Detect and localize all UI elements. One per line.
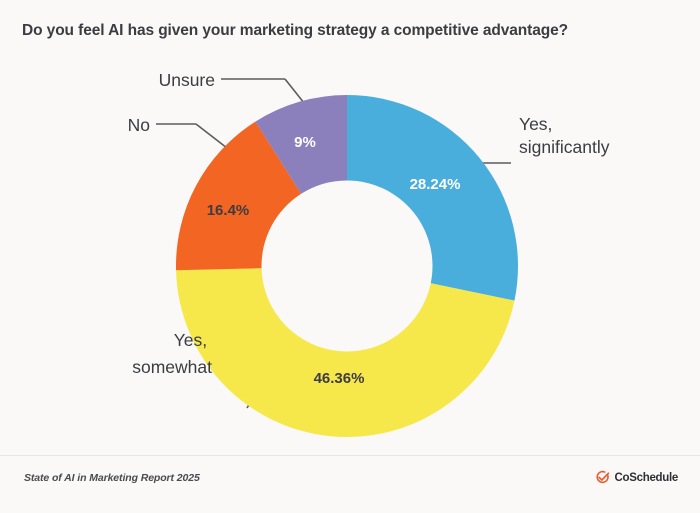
slice-yes-somewhat[interactable] (176, 268, 514, 437)
slice-value-unsure: 9% (294, 134, 316, 151)
leader-line-no-diagonal (196, 124, 227, 148)
slice-value-no: 16.4% (207, 202, 250, 219)
slice-value-yes-somewhat: 46.36% (314, 370, 365, 387)
brand-name: CoSchedule (615, 472, 678, 484)
callout-label-unsure: Unsure (159, 70, 215, 90)
callout-label-no: No (128, 115, 150, 135)
donut-chart: 28.24% 46.36% 16.4% 9% Yes, significantl… (0, 58, 700, 453)
slice-yes-significantly[interactable] (347, 95, 518, 301)
donut-chart-svg: 28.24% 46.36% 16.4% 9% Yes, significantl… (0, 58, 700, 453)
slice-value-yes-significantly: 28.24% (410, 176, 461, 193)
column-header-answer: Answer (2, 2, 122, 22)
infographic-canvas: Do you feel AI has given your marketing … (0, 0, 700, 513)
source-citation: State of AI in Marketing Report 2025 (24, 472, 200, 484)
table-header-row: Answer Share (2, 2, 180, 22)
check-circle-icon (595, 470, 610, 485)
footer-divider (0, 455, 700, 456)
column-header-share: Share (124, 2, 180, 22)
brand-logo: CoSchedule (595, 470, 678, 485)
page-title: Do you feel AI has given your marketing … (22, 22, 682, 41)
callout-label-yes-significantly: Yes, significantly (519, 114, 610, 157)
